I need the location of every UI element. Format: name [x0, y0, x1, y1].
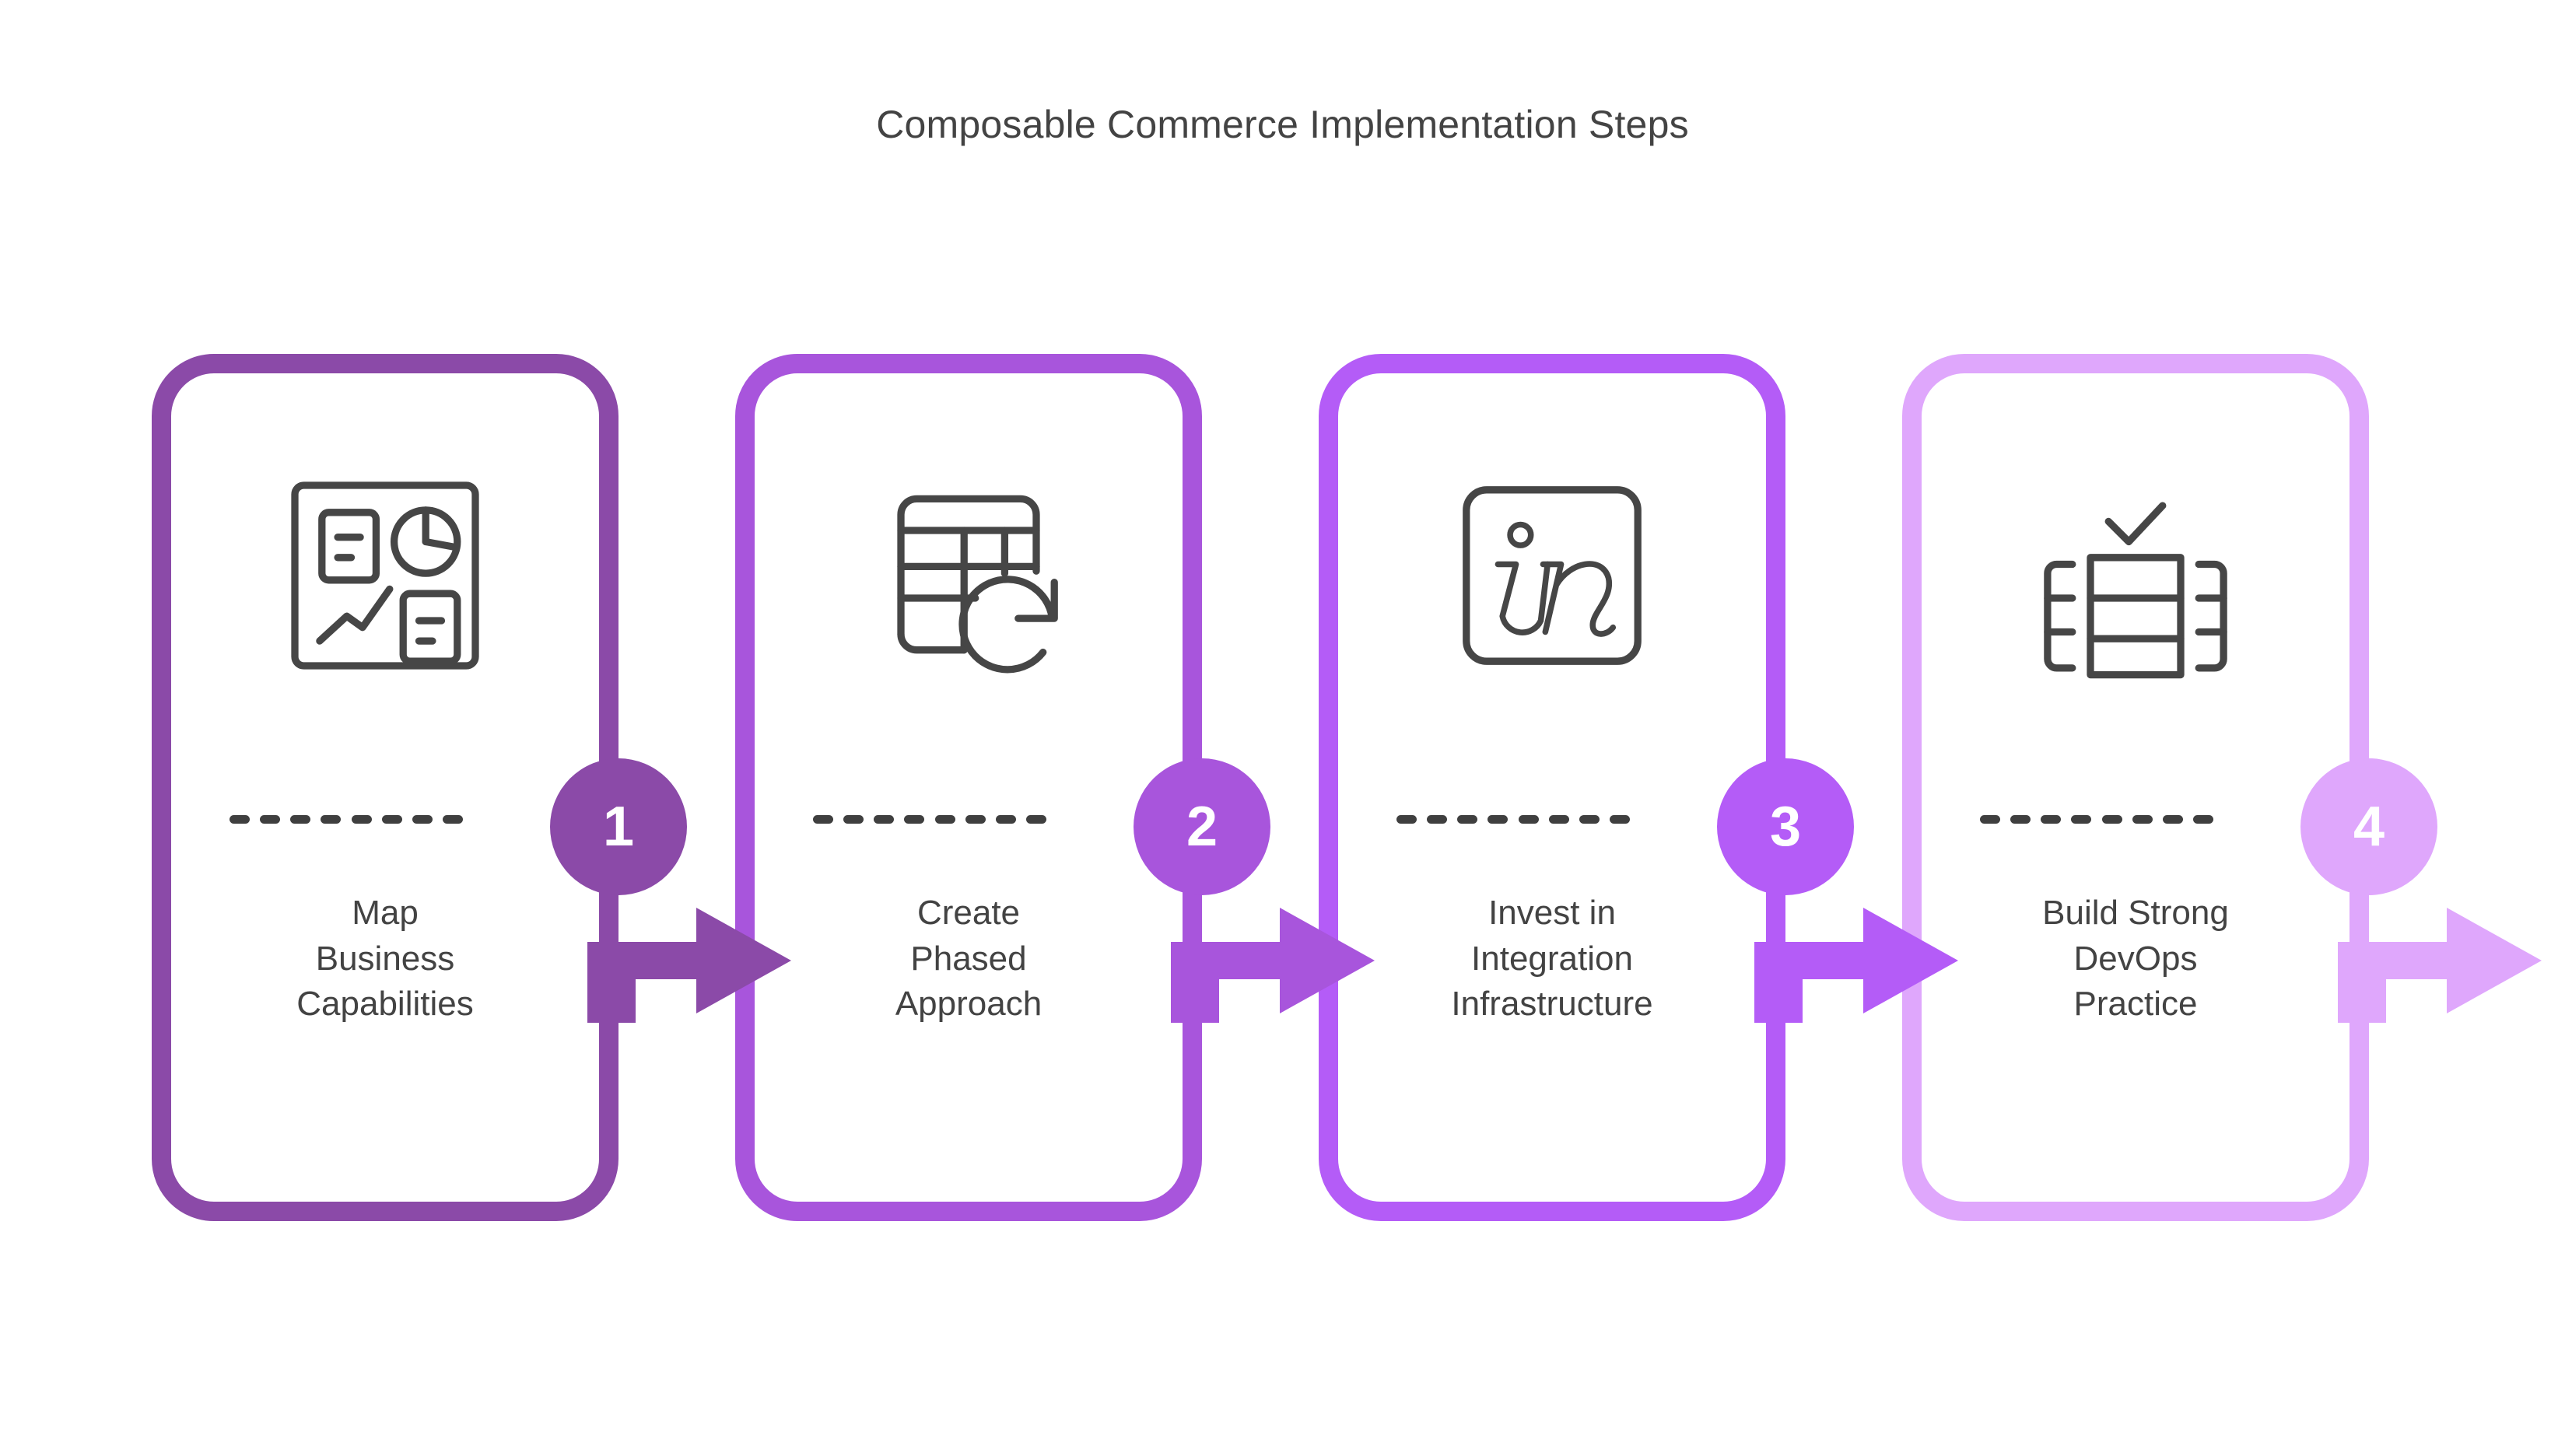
- step-connector-arrow-4: [2338, 898, 2548, 1023]
- step-card-2[interactable]: 2 Create Phased Approach: [735, 354, 1202, 1221]
- step-number-badge-3[interactable]: 3: [1717, 758, 1854, 895]
- step-icon-3: [1319, 455, 1785, 696]
- step-divider-2: [813, 814, 1046, 824]
- step-divider-1: [230, 814, 463, 824]
- step-number-label-3: 3: [1770, 799, 1801, 855]
- step-connector-arrow-2: [1171, 898, 1381, 1023]
- step-number-badge-4[interactable]: 4: [2300, 758, 2437, 895]
- in-letterform-icon: [1439, 463, 1665, 688]
- step-card-3[interactable]: 3 Invest in Integration Infrastructure: [1319, 354, 1785, 1221]
- infographic-canvas: Composable Commerce Implementation Steps: [0, 0, 2565, 1456]
- step-card-4[interactable]: 4 Build Strong DevOps Practice: [1902, 354, 2369, 1221]
- step-label-4: Build Strong DevOps Practice: [1941, 891, 2330, 1027]
- step-connector-arrow-3: [1754, 898, 1964, 1023]
- step-number-label-2: 2: [1186, 799, 1218, 855]
- step-label-3: Invest in Integration Infrastructure: [1358, 891, 1747, 1027]
- step-number-badge-2[interactable]: 2: [1134, 758, 1270, 895]
- step-divider-4: [1980, 814, 2213, 824]
- step-label-2: Create Phased Approach: [774, 891, 1163, 1027]
- steps-row: 1 Map Business Capabilities: [0, 0, 2565, 1456]
- step-card-1[interactable]: 1 Map Business Capabilities: [152, 354, 618, 1221]
- step-number-label-4: 4: [2353, 799, 2385, 855]
- step-connector-arrow-1: [587, 898, 797, 1023]
- step-icon-4: [1902, 455, 2369, 696]
- table-refresh-icon: [856, 463, 1081, 688]
- dashboard-report-icon: [272, 463, 498, 688]
- checked-server-rack-icon: [2023, 463, 2248, 688]
- step-number-badge-1[interactable]: 1: [550, 758, 687, 895]
- step-number-label-1: 1: [603, 799, 634, 855]
- step-icon-2: [735, 455, 1202, 696]
- step-icon-1: [152, 455, 618, 696]
- step-divider-3: [1396, 814, 1630, 824]
- step-label-1: Map Business Capabilities: [191, 891, 580, 1027]
